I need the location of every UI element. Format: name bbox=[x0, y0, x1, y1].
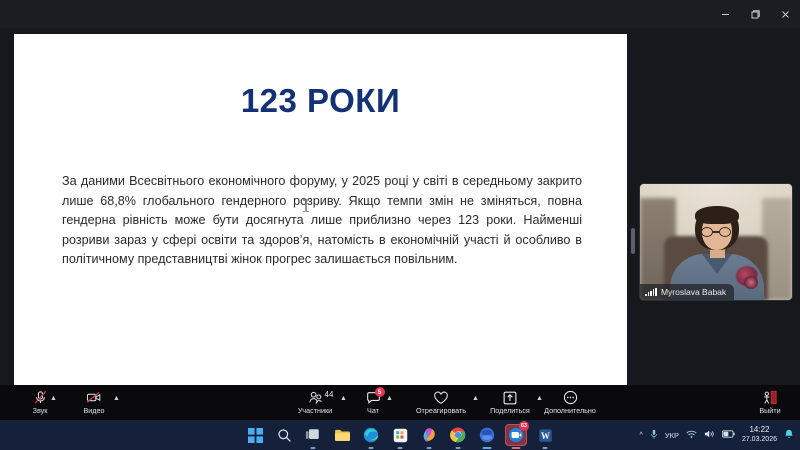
participant-video-tile[interactable]: Myroslava Babak bbox=[640, 184, 792, 300]
word-button[interactable]: W bbox=[534, 424, 556, 446]
chat-label: Чат bbox=[367, 406, 379, 415]
react-label: Отреагировать bbox=[416, 406, 466, 415]
participant-name-label: Myroslava Babak bbox=[640, 284, 734, 300]
taskbar-running-dot bbox=[427, 447, 432, 449]
audio-button[interactable]: Звук bbox=[18, 385, 62, 420]
svg-text:W: W bbox=[541, 430, 550, 440]
glasses-left-lens-icon bbox=[701, 227, 713, 237]
start-button[interactable] bbox=[244, 424, 266, 446]
system-tray: ^ УКР bbox=[640, 425, 794, 445]
more-button[interactable]: Дополнительно bbox=[540, 385, 600, 420]
zoom-app-badge: 63 bbox=[519, 421, 529, 431]
leave-meeting-icon bbox=[762, 390, 778, 405]
react-menu-chevron-icon[interactable]: ▲ bbox=[472, 395, 479, 402]
taskbar-running-dot bbox=[483, 447, 492, 449]
taskbar-running-dot bbox=[311, 447, 316, 449]
participants-button[interactable]: 44 Участники bbox=[288, 385, 342, 420]
chat-button[interactable]: 5 Чат bbox=[358, 385, 388, 420]
file-explorer-button[interactable] bbox=[331, 424, 353, 446]
teams-button[interactable] bbox=[476, 424, 498, 446]
participants-menu-chevron-icon[interactable]: ▲ bbox=[340, 395, 347, 402]
share-label: Поделиться bbox=[490, 406, 530, 415]
clock-date: 27.03.2026 bbox=[742, 435, 777, 445]
text-cursor-icon bbox=[305, 199, 307, 212]
participants-count: 44 bbox=[325, 390, 334, 399]
taskbar-icon-strip: 63 W bbox=[244, 424, 556, 446]
taskbar-running-dot bbox=[512, 447, 521, 449]
edge-browser-button[interactable] bbox=[360, 424, 382, 446]
slide-title: 123 РОКИ bbox=[14, 82, 627, 120]
signal-strength-icon bbox=[645, 288, 657, 296]
share-screen-icon bbox=[503, 390, 517, 405]
camera-muted-icon bbox=[86, 390, 102, 405]
video-button[interactable]: Видео bbox=[70, 385, 118, 420]
leave-label: Выйти bbox=[759, 406, 780, 415]
chat-unread-badge: 5 bbox=[375, 387, 385, 397]
share-button[interactable]: Поделиться bbox=[482, 385, 538, 420]
language-indicator[interactable]: УКР bbox=[665, 431, 679, 440]
audio-label: Звук bbox=[33, 406, 48, 415]
microsoft-store-button[interactable] bbox=[389, 424, 411, 446]
microphone-muted-icon bbox=[33, 390, 48, 405]
ellipsis-icon bbox=[563, 390, 578, 405]
zoom-meeting-window: 123 РОКИ За даними Всесвітнього економіч… bbox=[0, 0, 800, 450]
leave-meeting-button[interactable]: Выйти bbox=[750, 385, 790, 420]
video-label: Видео bbox=[84, 406, 105, 415]
presentation-slide: 123 РОКИ За даними Всесвітнього економіч… bbox=[14, 34, 627, 385]
person-hair-front bbox=[695, 206, 739, 224]
chat-icon: 5 bbox=[366, 390, 381, 405]
window-titlebar bbox=[0, 0, 800, 28]
react-button[interactable]: Отреагировать bbox=[408, 385, 474, 420]
more-label: Дополнительно bbox=[544, 406, 596, 415]
wifi-icon[interactable] bbox=[686, 430, 697, 441]
taskbar-running-dot bbox=[369, 447, 374, 449]
bell-icon[interactable] bbox=[784, 429, 794, 442]
taskbar-running-dot bbox=[398, 447, 403, 449]
shared-screen-stage: 123 РОКИ За даними Всесвітнього економіч… bbox=[0, 28, 800, 385]
taskbar-running-dot bbox=[543, 447, 548, 449]
clock[interactable]: 14:22 27.03.2026 bbox=[742, 425, 777, 445]
meeting-control-bar: Звук ▲ Видео ▲ 44 bbox=[0, 385, 800, 420]
glasses-right-lens-icon bbox=[719, 227, 731, 237]
video-menu-chevron-icon[interactable]: ▲ bbox=[113, 395, 120, 402]
chevron-up-icon[interactable]: ^ bbox=[640, 432, 643, 439]
taskbar-running-dot bbox=[456, 447, 461, 449]
slide-body-text: За даними Всесвітнього економічного фору… bbox=[62, 172, 582, 270]
zoom-app-button[interactable]: 63 bbox=[505, 424, 527, 446]
clock-time: 14:22 bbox=[742, 425, 777, 435]
participants-icon: 44 bbox=[308, 390, 323, 405]
windows-taskbar: 63 W ^ УКР bbox=[0, 420, 800, 450]
microphone-icon[interactable] bbox=[650, 429, 658, 442]
battery-icon[interactable] bbox=[722, 430, 735, 440]
video-panel-drag-handle[interactable] bbox=[631, 228, 635, 254]
minimize-button[interactable] bbox=[710, 1, 740, 27]
copilot-button[interactable] bbox=[418, 424, 440, 446]
task-view-button[interactable] bbox=[302, 424, 324, 446]
speaker-icon[interactable] bbox=[704, 429, 715, 441]
audio-menu-chevron-icon[interactable]: ▲ bbox=[50, 395, 57, 402]
participants-label: Участники bbox=[298, 406, 332, 415]
chat-menu-chevron-icon[interactable]: ▲ bbox=[386, 395, 393, 402]
close-button[interactable] bbox=[770, 1, 800, 27]
restore-button[interactable] bbox=[740, 1, 770, 27]
person-brooch-detail bbox=[744, 276, 758, 289]
heart-icon bbox=[433, 390, 449, 405]
chrome-browser-button[interactable] bbox=[447, 424, 469, 446]
search-button[interactable] bbox=[273, 424, 295, 446]
glasses-bridge bbox=[713, 231, 719, 233]
participant-name-text: Myroslava Babak bbox=[661, 287, 726, 297]
